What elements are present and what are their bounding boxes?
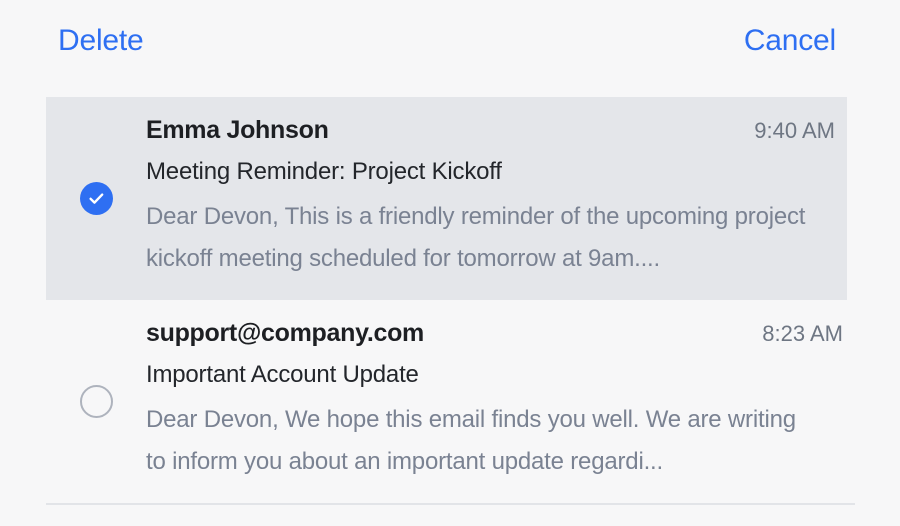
check-circle-filled-icon[interactable] [80, 182, 113, 215]
email-row[interactable]: support@company.com 8:23 AM Important Ac… [46, 300, 855, 503]
email-timestamp: 8:23 AM [762, 320, 843, 348]
email-list: Emma Johnson 9:40 AM Meeting Reminder: P… [46, 97, 855, 505]
circle-outline-icon[interactable] [80, 385, 113, 418]
email-timestamp: 9:40 AM [754, 117, 835, 145]
list-divider [46, 503, 855, 505]
email-sender: Emma Johnson [146, 115, 329, 145]
email-sender: support@company.com [146, 318, 424, 348]
email-content: support@company.com 8:23 AM Important Ac… [146, 318, 847, 483]
email-preview: Dear Devon, We hope this email finds you… [146, 399, 811, 483]
email-subject: Important Account Update [146, 360, 843, 389]
action-bar: Delete Cancel [0, 0, 900, 82]
email-header-line: support@company.com 8:23 AM [146, 318, 843, 348]
email-preview: Dear Devon, This is a friendly reminder … [146, 196, 811, 280]
cancel-button[interactable]: Cancel [744, 24, 836, 58]
selector-column [46, 383, 146, 418]
selector-column [46, 180, 146, 215]
email-header-line: Emma Johnson 9:40 AM [146, 115, 835, 145]
email-row-selected[interactable]: Emma Johnson 9:40 AM Meeting Reminder: P… [46, 97, 847, 300]
email-subject: Meeting Reminder: Project Kickoff [146, 157, 835, 186]
email-content: Emma Johnson 9:40 AM Meeting Reminder: P… [146, 115, 839, 280]
delete-button[interactable]: Delete [58, 24, 144, 58]
